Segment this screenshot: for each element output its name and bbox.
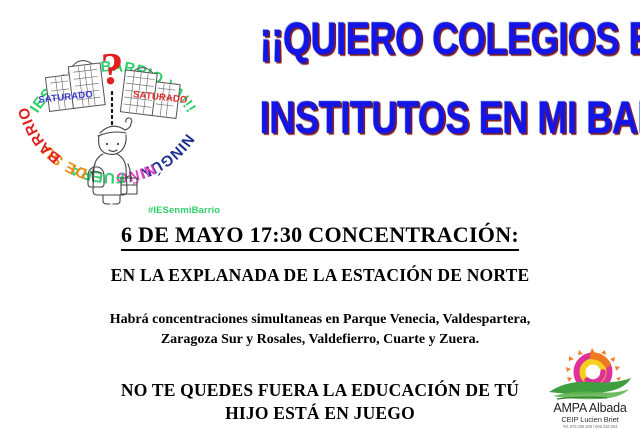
- headline-line-2: INSTITUTOS EN MI BARRIO!!: [260, 95, 594, 140]
- date-and-event-line: 6 DE MAYO 17:30 CONCENTRACIÓN:: [121, 222, 519, 251]
- campaign-hashtag: #IESenmiBarrio: [148, 205, 220, 216]
- ampa-logo-school: CEIP Lucien Briet: [543, 415, 637, 424]
- poster-canvas: IES EN MI BARRIO YA!!! NINGÚN NIÑO FUERA…: [0, 0, 640, 428]
- simultaneous-locations: Habrá concentraciones simultaneas en Par…: [0, 310, 640, 351]
- question-mark-icon: ?: [101, 43, 124, 94]
- date-line-wrapper: 6 DE MAYO 17:30 CONCENTRACIÓN:: [0, 222, 640, 251]
- poster-headline: ¡¡QUIERO COLEGIOS E INSTITUTOS EN MI BAR…: [218, 16, 636, 140]
- ampa-logo-name: AMPA Albada: [543, 401, 637, 415]
- ampa-logo-contact: Tel. 976 348 206 / 606 416 504: [543, 424, 637, 429]
- simultaneous-line-1: Habrá concentraciones simultaneas en Par…: [0, 310, 640, 330]
- venue-line: EN LA EXPLANADA DE LA ESTACIÓN DE NORTE: [0, 265, 640, 286]
- campaign-logo: IES EN MI BARRIO YA!!! NINGÚN NIÑO FUERA…: [8, 12, 218, 212]
- ampa-logo: AMPA Albada CEIP Lucien Briet Tel. 976 3…: [543, 346, 637, 428]
- child-figure-icon: [88, 118, 137, 204]
- headline-line-1: ¡¡QUIERO COLEGIOS E: [260, 16, 594, 61]
